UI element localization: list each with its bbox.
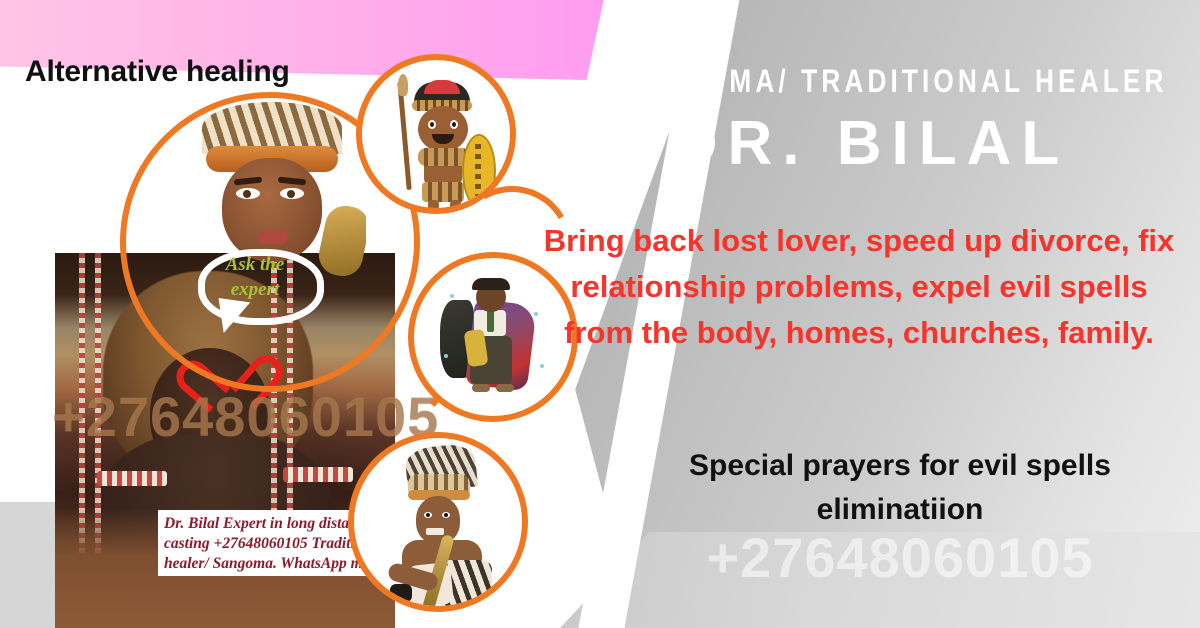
circle-image-crouching-warrior[interactable] [348, 432, 528, 612]
phone-watermark: +27648060105 [52, 384, 439, 449]
poster-canvas: +27648060105 Dr. Bilal Expert in long di… [0, 0, 1200, 628]
services-description: Bring back lost lover, speed up divorce,… [534, 218, 1184, 356]
warrior-leg-right [450, 200, 461, 214]
speech-bubble-tail-icon [214, 298, 250, 336]
warrior-headdress-red [424, 80, 460, 94]
photo-armband [97, 471, 167, 486]
phone-number-large[interactable]: +27648060105 [610, 525, 1190, 590]
sangoma-hat [472, 278, 510, 290]
crouch-eye-left [424, 512, 432, 518]
warrior-eye-left [428, 120, 436, 129]
crouch-hand-object [390, 584, 412, 602]
speech-bubble-text: Ask the expert [206, 252, 304, 302]
sparkle-icon [444, 354, 448, 358]
sparkle-icon [540, 364, 544, 368]
crouch-head [416, 496, 460, 544]
page-title: Alternative healing [25, 55, 290, 89]
crouch-mouth [426, 528, 444, 535]
photo-armband [283, 467, 353, 482]
brand-name: DR. BILAL [556, 108, 1186, 179]
sangoma-tie [487, 310, 494, 332]
warrior-leg-left [428, 200, 439, 214]
sangoma-foot-left [472, 384, 490, 392]
special-offer-text: Special prayers for evil spells eliminat… [610, 444, 1190, 532]
warrior-eye-right [450, 120, 458, 129]
kicker-heading: SANGOMA/ TRADITIONAL HEALER [613, 63, 1130, 100]
warrior-spear-icon [397, 82, 411, 190]
crouch-eye-right [442, 512, 450, 518]
circle-image-zulu-warrior[interactable] [356, 54, 516, 214]
sangoma-foot-right [496, 384, 514, 392]
warrior-shield-icon [462, 134, 496, 208]
warrior-skirt [422, 182, 464, 202]
sparkle-icon [450, 294, 454, 298]
warrior-head [418, 106, 468, 152]
warrior-spearhead-icon [398, 74, 408, 96]
